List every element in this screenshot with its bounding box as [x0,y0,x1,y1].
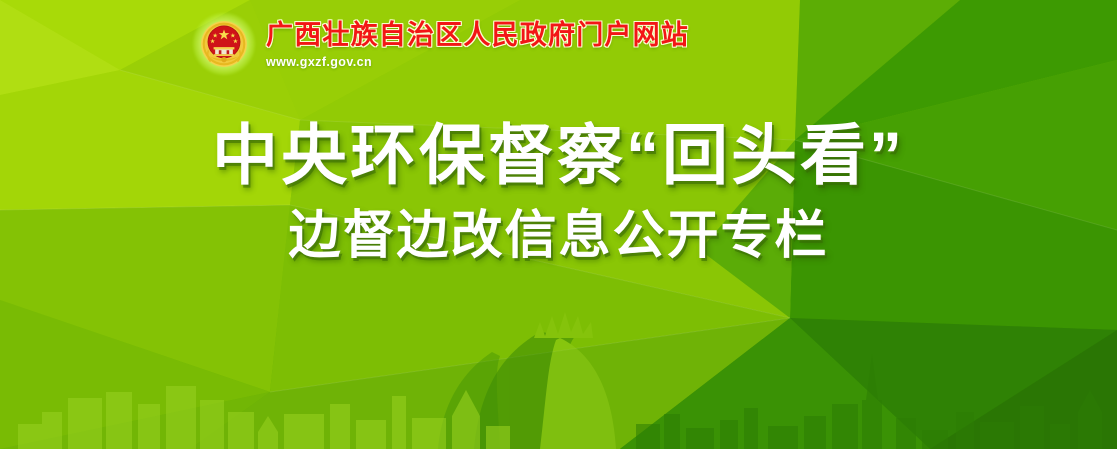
site-identity-text: 广西壮族自治区人民政府门户网站 www.gxzf.gov.cn [266,19,689,68]
china-national-emblem-icon [193,13,255,75]
site-header: 广西壮族自治区人民政府门户网站 www.gxzf.gov.cn [193,13,689,75]
gxzf-environmental-inspection-banner: 广西壮族自治区人民政府门户网站 www.gxzf.gov.cn 中央环保督察“回… [0,0,1117,449]
site-url: www.gxzf.gov.cn [266,55,689,69]
site-name: 广西壮族自治区人民政府门户网站 [266,21,689,50]
national-emblem-graphic [198,18,250,70]
